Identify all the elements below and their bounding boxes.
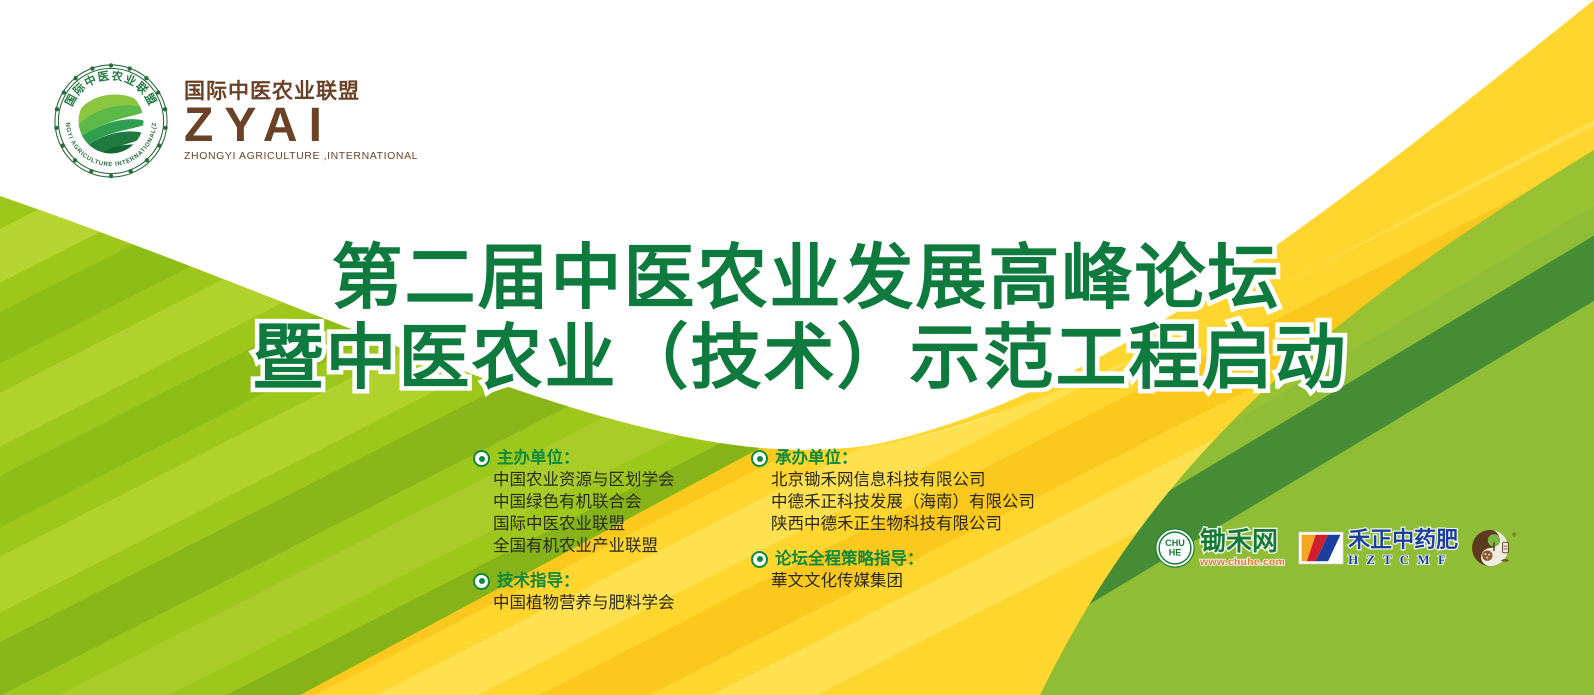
- info-group-technical-guidance: 技术指导： 中国植物营养与肥料学会: [473, 570, 733, 614]
- list-item: 中国植物营养与肥料学会: [493, 592, 733, 614]
- sponsor-logo-chuhe: CHU HE 锄禾网 www.chuhe.com: [1155, 528, 1285, 568]
- info-heading: 技术指导：: [473, 570, 733, 591]
- list-item: 国际中医农业联盟: [493, 513, 733, 535]
- info-item-list: 華文文化传媒集团: [751, 570, 1051, 592]
- ring-dot-bullet-icon: [473, 573, 490, 590]
- poster-canvas: 国际中医农业联盟 ZHONGYI AGRICULTURE INTERNATION…: [0, 0, 1594, 695]
- list-item: 華文文化传媒集团: [771, 570, 1051, 592]
- chuhe-circle-logo-icon: CHU HE: [1155, 528, 1195, 568]
- info-column-right: 承办单位： 北京锄禾网信息科技有限公司 中德禾正科技发展（海南）有限公司 陕西中…: [751, 447, 1051, 614]
- list-item: 中德禾正科技发展（海南）有限公司: [771, 491, 1051, 513]
- trademark-symbol: ®: [1512, 532, 1517, 539]
- info-group-co-organizer: 承办单位： 北京锄禾网信息科技有限公司 中德禾正科技发展（海南）有限公司 陕西中…: [751, 447, 1051, 535]
- zyai-circular-emblem-icon: 国际中医农业联盟 ZHONGYI AGRICULTURE INTERNATION…: [52, 62, 170, 180]
- sponsor-logo-yinyang-tree: ®: [1471, 527, 1517, 569]
- list-item: 中国农业资源与区划学会: [493, 469, 733, 491]
- info-group-host: 主办单位： 中国农业资源与区划学会 中国绿色有机联合会 国际中医农业联盟 全国有…: [473, 447, 733, 557]
- info-heading-label: 承办单位：: [775, 447, 858, 468]
- hztcmf-z-stripes-logo-icon: [1298, 530, 1344, 566]
- sponsor-name-cn: 禾正中药肥: [1348, 530, 1458, 552]
- info-heading: 主办单位：: [473, 447, 733, 468]
- list-item: 全国有机农业产业联盟: [493, 535, 733, 557]
- organization-logo: 国际中医农业联盟 ZHONGYI AGRICULTURE INTERNATION…: [52, 62, 418, 180]
- info-group-strategy-guidance: 论坛全程策略指导： 華文文化传媒集团: [751, 548, 1051, 592]
- sponsor-url: www.chuhe.com: [1200, 557, 1285, 568]
- info-item-list: 北京锄禾网信息科技有限公司 中德禾正科技发展（海南）有限公司 陕西中德禾正生物科…: [751, 469, 1051, 535]
- organizer-info: 主办单位： 中国农业资源与区划学会 中国绿色有机联合会 国际中医农业联盟 全国有…: [473, 447, 1113, 614]
- sponsor-logo-hztcmf: 禾正中药肥 H Z T C M F: [1298, 530, 1458, 566]
- info-heading-label: 论坛全程策略指导：: [775, 548, 924, 569]
- ring-dot-bullet-icon: [751, 450, 768, 467]
- yinyang-tree-logo-icon: ®: [1471, 527, 1517, 569]
- info-heading-label: 技术指导：: [497, 570, 580, 591]
- list-item: 中国绿色有机联合会: [493, 491, 733, 513]
- info-column-left: 主办单位： 中国农业资源与区划学会 中国绿色有机联合会 国际中医农业联盟 全国有…: [473, 447, 733, 614]
- list-item: 北京锄禾网信息科技有限公司: [771, 469, 1051, 491]
- info-item-list: 中国农业资源与区划学会 中国绿色有机联合会 国际中医农业联盟 全国有机农业产业联…: [473, 469, 733, 557]
- svg-text:HE: HE: [1169, 547, 1182, 557]
- org-acronym: ZYAI: [184, 104, 333, 148]
- sponsor-logo-strip: CHU HE 锄禾网 www.chuhe.com 禾正中药肥 H Z T C M…: [1155, 527, 1517, 569]
- ring-dot-bullet-icon: [751, 551, 768, 568]
- ring-dot-bullet-icon: [473, 450, 490, 467]
- list-item: 陕西中德禾正生物科技有限公司: [771, 513, 1051, 535]
- info-heading-label: 主办单位：: [497, 447, 580, 468]
- org-wordmark: 国际中医农业联盟 ZYAI ZHONGYI AGRICULTURE ,INTER…: [184, 81, 418, 162]
- info-heading: 承办单位：: [751, 447, 1051, 468]
- info-item-list: 中国植物营养与肥料学会: [473, 592, 733, 614]
- info-heading: 论坛全程策略指导：: [751, 548, 1051, 569]
- sponsor-name-cn: 锄禾网: [1200, 529, 1285, 555]
- org-name-en: ZHONGYI AGRICULTURE ,INTERNATIONAL: [184, 151, 418, 162]
- sponsor-name-en: H Z T C M F: [1348, 553, 1458, 566]
